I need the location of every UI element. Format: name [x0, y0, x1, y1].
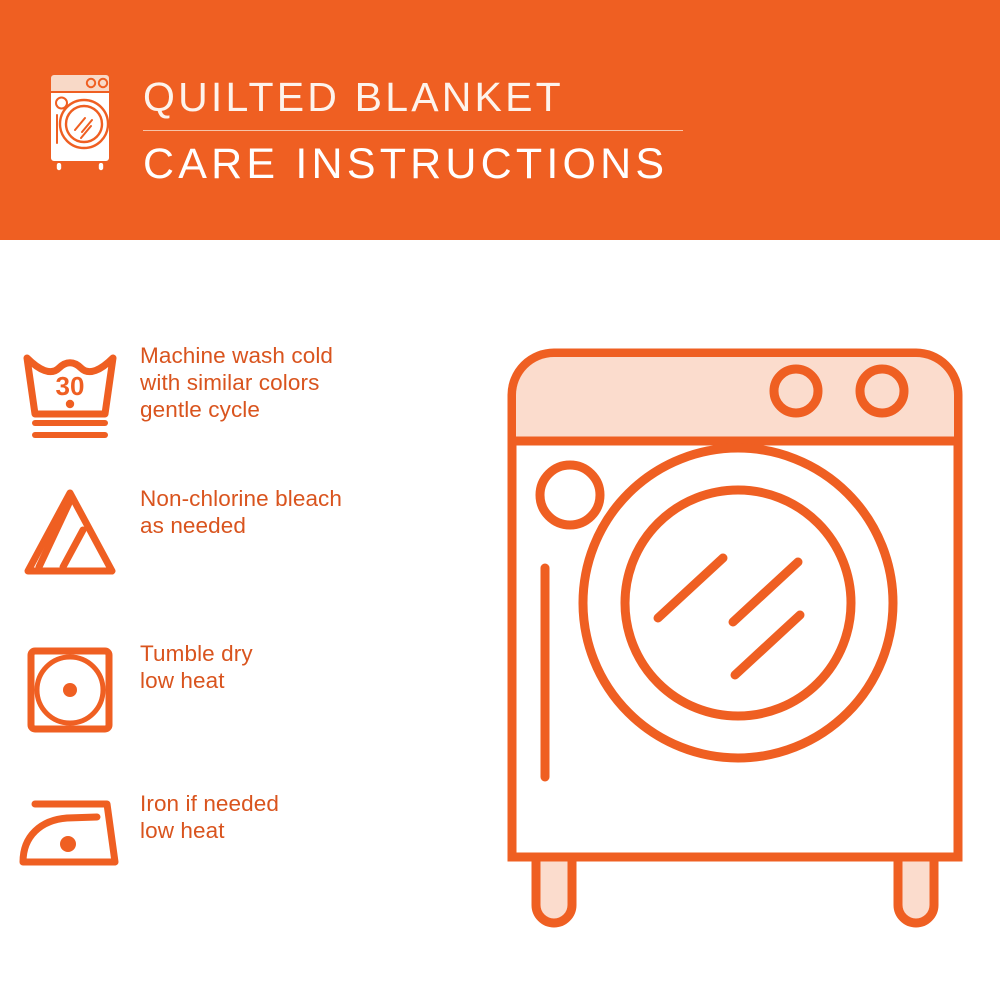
leg-left [536, 857, 572, 923]
washing-machine-icon [44, 68, 120, 174]
leg-right [898, 857, 934, 923]
care-text-line: low heat [140, 667, 253, 694]
care-text-line: Machine wash cold [140, 342, 333, 369]
care-symbol-list: 30 Machine wash cold with similar colors… [0, 240, 490, 1000]
title-divider [143, 130, 683, 131]
care-instructions-page: QUILTED BLANKET CARE INSTRUCTIONS 30 Mac… [0, 0, 1000, 1000]
wash-tub-icon: 30 [0, 340, 140, 450]
bleach-triangle-icon [0, 483, 140, 583]
care-text-tumble-dry: Tumble dry low heat [140, 638, 253, 694]
page-title-primary: QUILTED BLANKET [143, 72, 703, 122]
iron-icon [0, 788, 140, 878]
care-text-line: with similar colors [140, 369, 333, 396]
care-text-line: Iron if needed [140, 790, 279, 817]
washing-machine-illustration [490, 325, 980, 940]
care-row-bleach: Non-chlorine bleach as needed [0, 483, 490, 583]
care-text-bleach: Non-chlorine bleach as needed [140, 483, 342, 539]
care-text-line: Tumble dry [140, 640, 253, 667]
care-text-line: Non-chlorine bleach [140, 485, 342, 512]
care-text-iron: Iron if needed low heat [140, 788, 279, 844]
care-row-wash: 30 Machine wash cold with similar colors… [0, 340, 490, 450]
tumble-dry-icon [0, 638, 140, 748]
care-row-iron: Iron if needed low heat [0, 788, 490, 878]
wash-temperature-label: 30 [56, 371, 85, 401]
care-row-tumble-dry: Tumble dry low heat [0, 638, 490, 748]
page-title-secondary: CARE INSTRUCTIONS [143, 138, 703, 190]
care-text-line: as needed [140, 512, 342, 539]
care-text-line: gentle cycle [140, 396, 333, 423]
header-title-group: QUILTED BLANKET CARE INSTRUCTIONS [143, 72, 703, 190]
care-text-wash: Machine wash cold with similar colors ge… [140, 340, 333, 423]
header-banner: QUILTED BLANKET CARE INSTRUCTIONS [0, 0, 1000, 240]
care-text-line: low heat [140, 817, 279, 844]
